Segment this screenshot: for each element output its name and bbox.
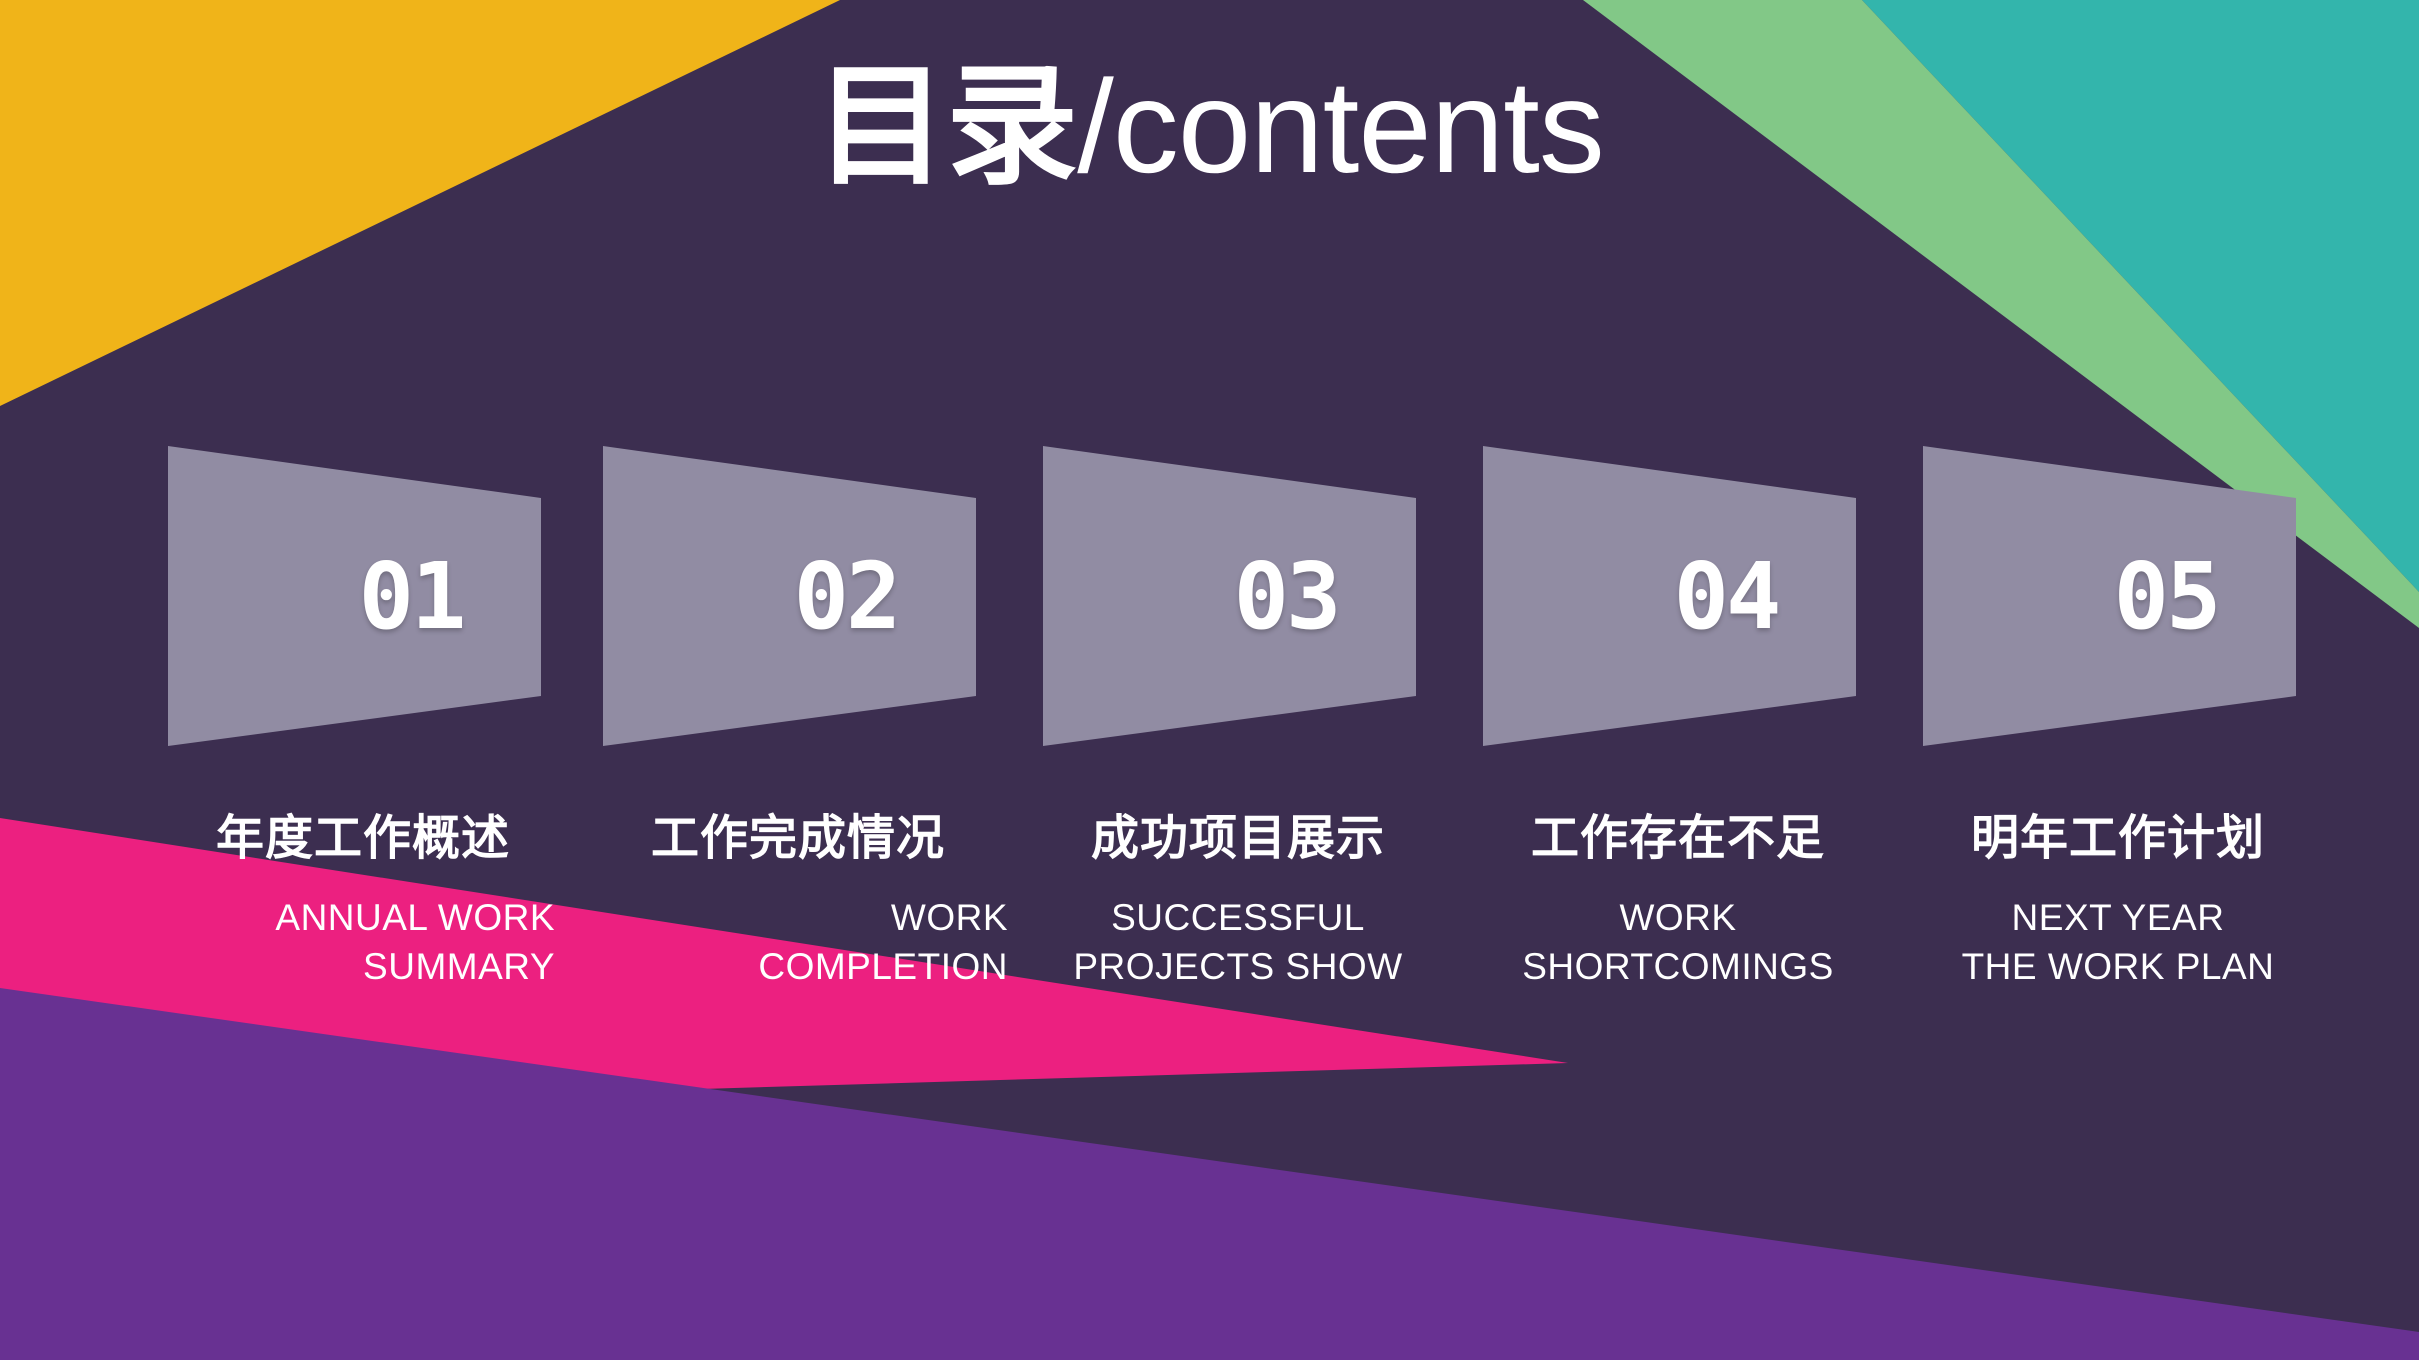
number-panel-04[interactable]: 04 <box>1483 446 1873 746</box>
number-panel-03[interactable]: 03 <box>1043 446 1433 746</box>
agenda-item-05[interactable]: 05 明年工作计划 NEXT YEAR THE WORK PLAN <box>1898 446 2338 992</box>
item-number-01: 01 <box>168 446 558 746</box>
item-label-cn-03: 成功项目展示 <box>1018 798 1458 868</box>
title-separator: / <box>1077 53 1113 200</box>
number-panel-02[interactable]: 02 <box>603 446 993 746</box>
item-label-en-02: WORK COMPLETION <box>578 894 1018 992</box>
item-label-en-line2-05: THE WORK PLAN <box>1898 943 2338 992</box>
title-english: contents <box>1113 53 1604 200</box>
item-label-en-line1-03: SUCCESSFUL <box>1111 897 1365 938</box>
item-number-04: 04 <box>1483 446 1873 746</box>
agenda-items-list: 01 年度工作概述 ANNUAL WORK SUMMARY 02 工作完成情况 … <box>0 0 2419 1360</box>
agenda-item-02[interactable]: 02 工作完成情况 WORK COMPLETION <box>578 446 1018 992</box>
item-label-cn-01: 年度工作概述 <box>143 798 583 868</box>
item-label-en-line1-04: WORK <box>1619 897 1736 938</box>
item-label-en-03: SUCCESSFUL PROJECTS SHOW <box>1018 894 1458 992</box>
item-label-en-line2-01: SUMMARY <box>143 943 555 992</box>
item-label-en-01: ANNUAL WORK SUMMARY <box>143 894 583 992</box>
page-title: 目录/contents <box>815 56 1604 199</box>
item-label-en-04: WORK SHORTCOMINGS <box>1458 894 1898 992</box>
slide-title-container: 目录/contents <box>0 56 2419 199</box>
presentation-slide: 目录/contents 01 年度工作概述 ANNUAL WORK SUMMAR… <box>0 0 2419 1360</box>
item-number-05: 05 <box>1923 446 2313 746</box>
agenda-item-03[interactable]: 03 成功项目展示 SUCCESSFUL PROJECTS SHOW <box>1018 446 1458 992</box>
item-number-03: 03 <box>1043 446 1433 746</box>
agenda-item-04[interactable]: 04 工作存在不足 WORK SHORTCOMINGS <box>1458 446 1898 992</box>
number-panel-01[interactable]: 01 <box>168 446 558 746</box>
title-chinese: 目录 <box>815 50 1077 204</box>
item-label-en-line2-03: PROJECTS SHOW <box>1018 943 1458 992</box>
item-label-en-line2-04: SHORTCOMINGS <box>1458 943 1898 992</box>
item-label-en-line1-01: ANNUAL WORK <box>275 897 555 938</box>
item-label-cn-05: 明年工作计划 <box>1898 798 2338 868</box>
item-label-cn-02: 工作完成情况 <box>578 798 1018 868</box>
item-label-en-05: NEXT YEAR THE WORK PLAN <box>1898 894 2338 992</box>
agenda-item-01[interactable]: 01 年度工作概述 ANNUAL WORK SUMMARY <box>143 446 583 992</box>
item-label-en-line2-02: COMPLETION <box>578 943 1008 992</box>
number-panel-05[interactable]: 05 <box>1923 446 2313 746</box>
item-label-en-line1-05: NEXT YEAR <box>2012 897 2225 938</box>
item-number-02: 02 <box>603 446 993 746</box>
item-label-cn-04: 工作存在不足 <box>1458 798 1898 868</box>
item-label-en-line1-02: WORK <box>891 897 1008 938</box>
